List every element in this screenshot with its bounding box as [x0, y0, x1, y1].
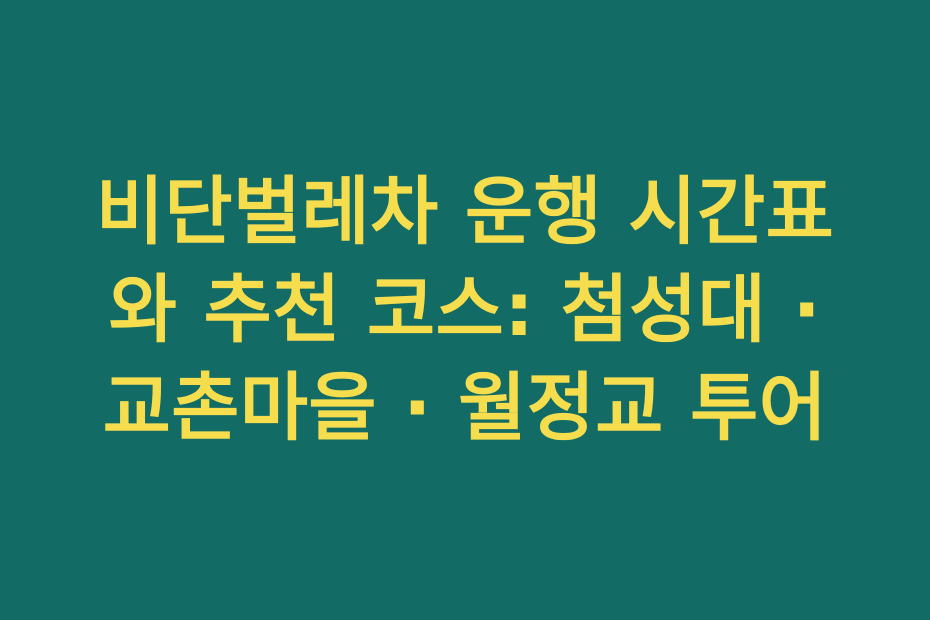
page-title-line-1: 비단벌레차 운행 시간표	[70, 163, 860, 261]
title-card: 비단벌레차 운행 시간표 와 추천 코스: 첨성대 · 교촌마을 · 월정교 투…	[0, 0, 930, 620]
page-title-line-3: 교촌마을 · 월정교 투어	[70, 359, 860, 457]
page-title: 비단벌레차 운행 시간표 와 추천 코스: 첨성대 · 교촌마을 · 월정교 투…	[70, 163, 860, 457]
page-title-line-2: 와 추천 코스: 첨성대 ·	[70, 261, 860, 359]
